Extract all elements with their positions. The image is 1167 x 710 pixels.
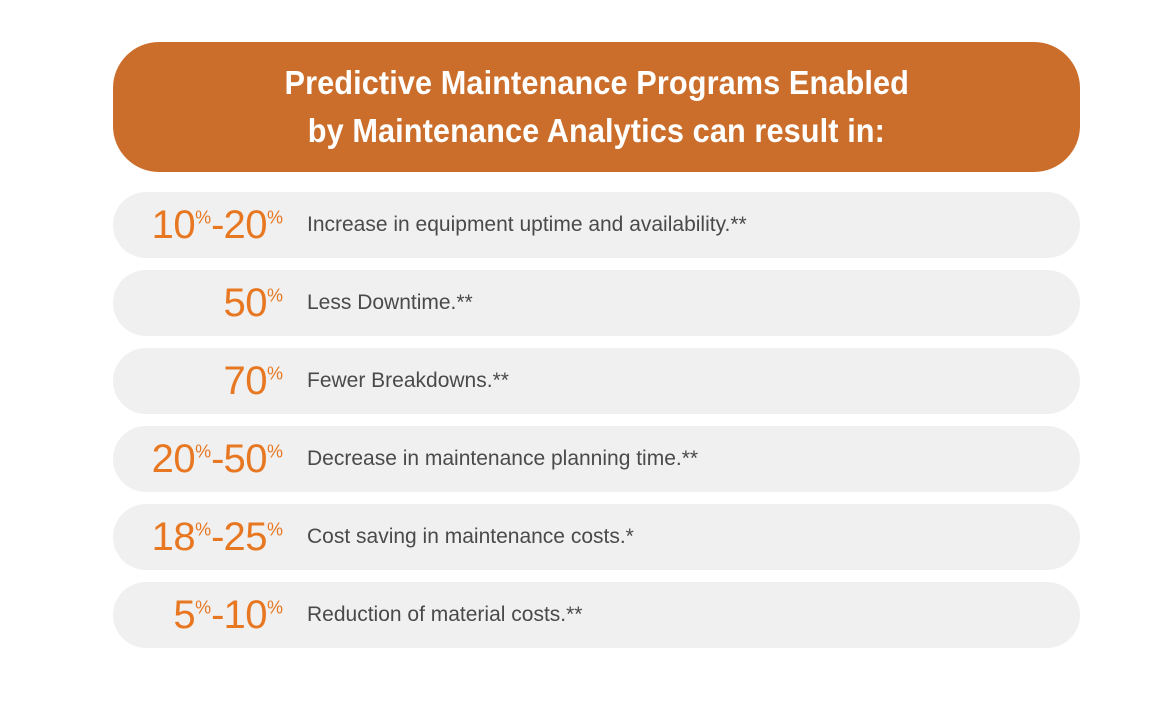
percent-sign: %: [195, 442, 211, 462]
stat-value: 50%: [113, 283, 283, 323]
stat-description: Less Downtime.**: [283, 290, 1080, 315]
percent-sign: %: [267, 286, 283, 306]
stat-value: 18%-25%: [113, 517, 283, 557]
percent-sign: %: [267, 442, 283, 462]
percent-sign: %: [267, 208, 283, 228]
stat-low-value: 70: [223, 359, 267, 403]
stat-value: 5%-10%: [113, 595, 283, 635]
percent-sign: %: [195, 520, 211, 540]
stat-row: 10%-20%Increase in equipment uptime and …: [113, 192, 1080, 258]
stat-high-value: 20: [223, 203, 267, 247]
percent-sign: %: [195, 208, 211, 228]
stat-description: Fewer Breakdowns.**: [283, 368, 1080, 393]
stat-low-value: 20: [152, 437, 196, 481]
stat-low-value: 50: [223, 281, 267, 325]
banner-title-line-2: by Maintenance Analytics can result in:: [308, 107, 885, 155]
stat-row: 70%Fewer Breakdowns.**: [113, 348, 1080, 414]
range-separator: -: [211, 203, 223, 247]
stat-low-value: 5: [173, 593, 195, 637]
stat-high-value: 10: [223, 593, 267, 637]
stat-row: 50%Less Downtime.**: [113, 270, 1080, 336]
range-separator: -: [211, 593, 223, 637]
stat-low-value: 10: [152, 203, 196, 247]
stat-high-value: 25: [223, 515, 267, 559]
range-separator: -: [211, 437, 223, 481]
infographic-container: Predictive Maintenance Programs Enabled …: [0, 0, 1167, 710]
stat-row: 18%-25%Cost saving in maintenance costs.…: [113, 504, 1080, 570]
stat-description: Cost saving in maintenance costs.*: [283, 524, 1080, 549]
banner-title-line-1: Predictive Maintenance Programs Enabled: [284, 59, 908, 107]
stat-low-value: 18: [152, 515, 196, 559]
range-separator: -: [211, 515, 223, 559]
percent-sign: %: [267, 520, 283, 540]
stat-value: 20%-50%: [113, 439, 283, 479]
stat-row: 20%-50%Decrease in maintenance planning …: [113, 426, 1080, 492]
header-banner: Predictive Maintenance Programs Enabled …: [113, 42, 1080, 172]
stat-value: 70%: [113, 361, 283, 401]
stat-row-list: 10%-20%Increase in equipment uptime and …: [113, 192, 1080, 648]
percent-sign: %: [267, 598, 283, 618]
stat-value: 10%-20%: [113, 205, 283, 245]
stat-description: Increase in equipment uptime and availab…: [283, 212, 1080, 237]
stat-description: Decrease in maintenance planning time.**: [283, 446, 1080, 471]
stat-row: 5%-10%Reduction of material costs.**: [113, 582, 1080, 648]
stat-high-value: 50: [223, 437, 267, 481]
stat-description: Reduction of material costs.**: [283, 602, 1080, 627]
percent-sign: %: [195, 598, 211, 618]
percent-sign: %: [267, 364, 283, 384]
